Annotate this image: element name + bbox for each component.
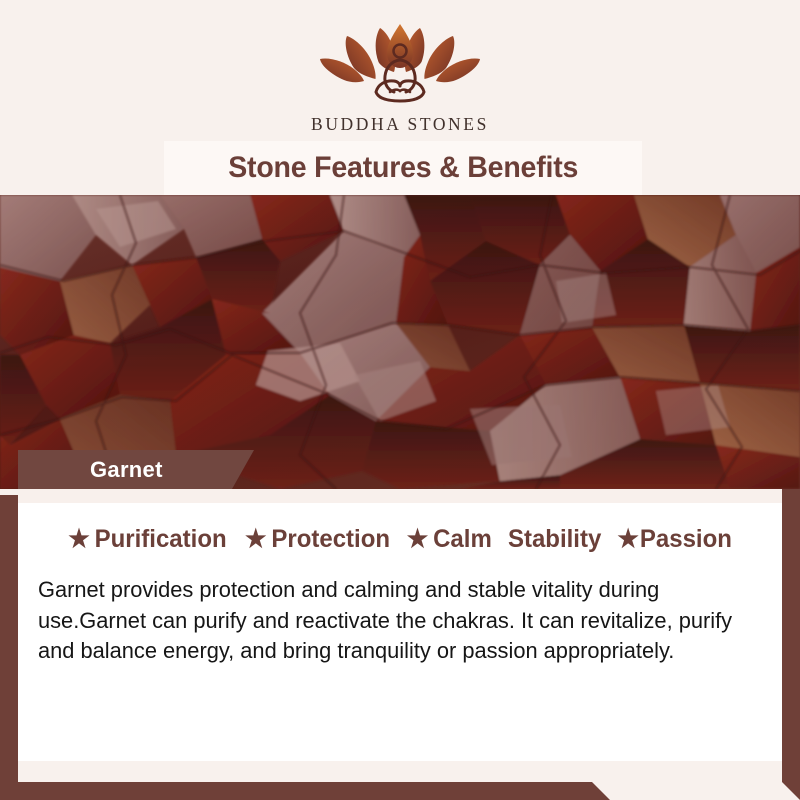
feature-item-purification: ★Purification xyxy=(69,525,227,554)
brand-name: BUDDHA STONES xyxy=(0,114,800,135)
feature-item-protection: ★Protection xyxy=(245,525,390,554)
star-icon: ★ xyxy=(69,527,91,552)
star-icon: ★ xyxy=(245,527,267,552)
hero-image xyxy=(0,195,800,489)
poster-root: BUDDHA STONES Stone Features & Benefits xyxy=(0,0,800,800)
content-panel: ★Purification ★Protection ★Calm ★Stabili… xyxy=(18,489,782,761)
feature-item-passion: ★Passion xyxy=(618,525,733,554)
title-band: Stone Features & Benefits xyxy=(164,141,642,195)
feature-label: Protection xyxy=(272,525,391,554)
star-icon: ★ xyxy=(407,527,429,552)
feature-label: Stability xyxy=(508,525,601,554)
stone-name-tag: Garnet xyxy=(18,450,254,489)
stone-name-label: Garnet xyxy=(90,457,163,483)
lotus-meditation-icon xyxy=(315,22,485,108)
stone-description: Garnet provides protection and calming a… xyxy=(38,575,746,667)
feature-label: Passion xyxy=(640,525,732,554)
feature-label: Calm xyxy=(434,525,493,554)
star-icon: ★ xyxy=(618,527,640,552)
feature-list: ★Purification ★Protection ★Calm ★Stabili… xyxy=(18,525,782,554)
frame-band-bottom xyxy=(0,782,800,800)
brand-logo: BUDDHA STONES xyxy=(0,22,800,135)
garnet-crystal-cluster-photo xyxy=(0,195,800,489)
feature-label: Purification xyxy=(95,525,227,554)
panel-top-fade xyxy=(18,489,782,503)
feature-item-calm: ★Calm xyxy=(407,525,492,554)
feature-item-stability: ★Stability xyxy=(508,525,601,554)
page-title: Stone Features & Benefits xyxy=(228,151,578,185)
